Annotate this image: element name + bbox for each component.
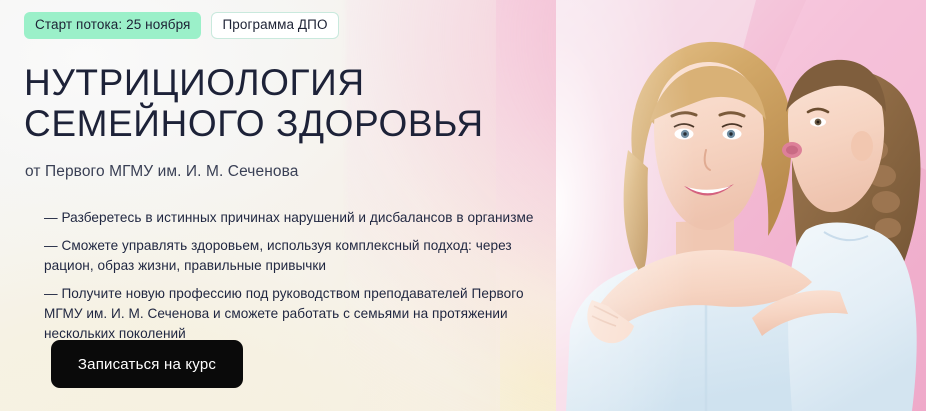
program-type-badge: Программа ДПО xyxy=(211,12,338,39)
promo-banner: Старт потока: 25 ноября Программа ДПО НУ… xyxy=(0,0,926,411)
family-photo xyxy=(556,0,926,411)
family-photo-illustration xyxy=(556,0,926,411)
badge-row: Старт потока: 25 ноября Программа ДПО xyxy=(24,12,339,39)
list-item: — Разберетесь в истинных причинах наруше… xyxy=(44,208,556,228)
list-item: — Получите новую профессию под руководст… xyxy=(44,284,556,344)
page-title: НУТРИЦИОЛОГИЯ СЕМЕЙНОГО ЗДОРОВЬЯ xyxy=(24,62,484,145)
list-item: — Сможете управлять здоровьем, используя… xyxy=(44,236,556,276)
start-date-badge: Старт потока: 25 ноября xyxy=(24,12,201,39)
banner-content: Старт потока: 25 ноября Программа ДПО НУ… xyxy=(24,0,584,411)
benefits-list: — Разберетесь в истинных причинах наруше… xyxy=(44,208,556,344)
page-subtitle: от Первого МГМУ им. И. М. Сеченова xyxy=(25,163,298,181)
enroll-button[interactable]: Записаться на курс xyxy=(51,340,243,388)
